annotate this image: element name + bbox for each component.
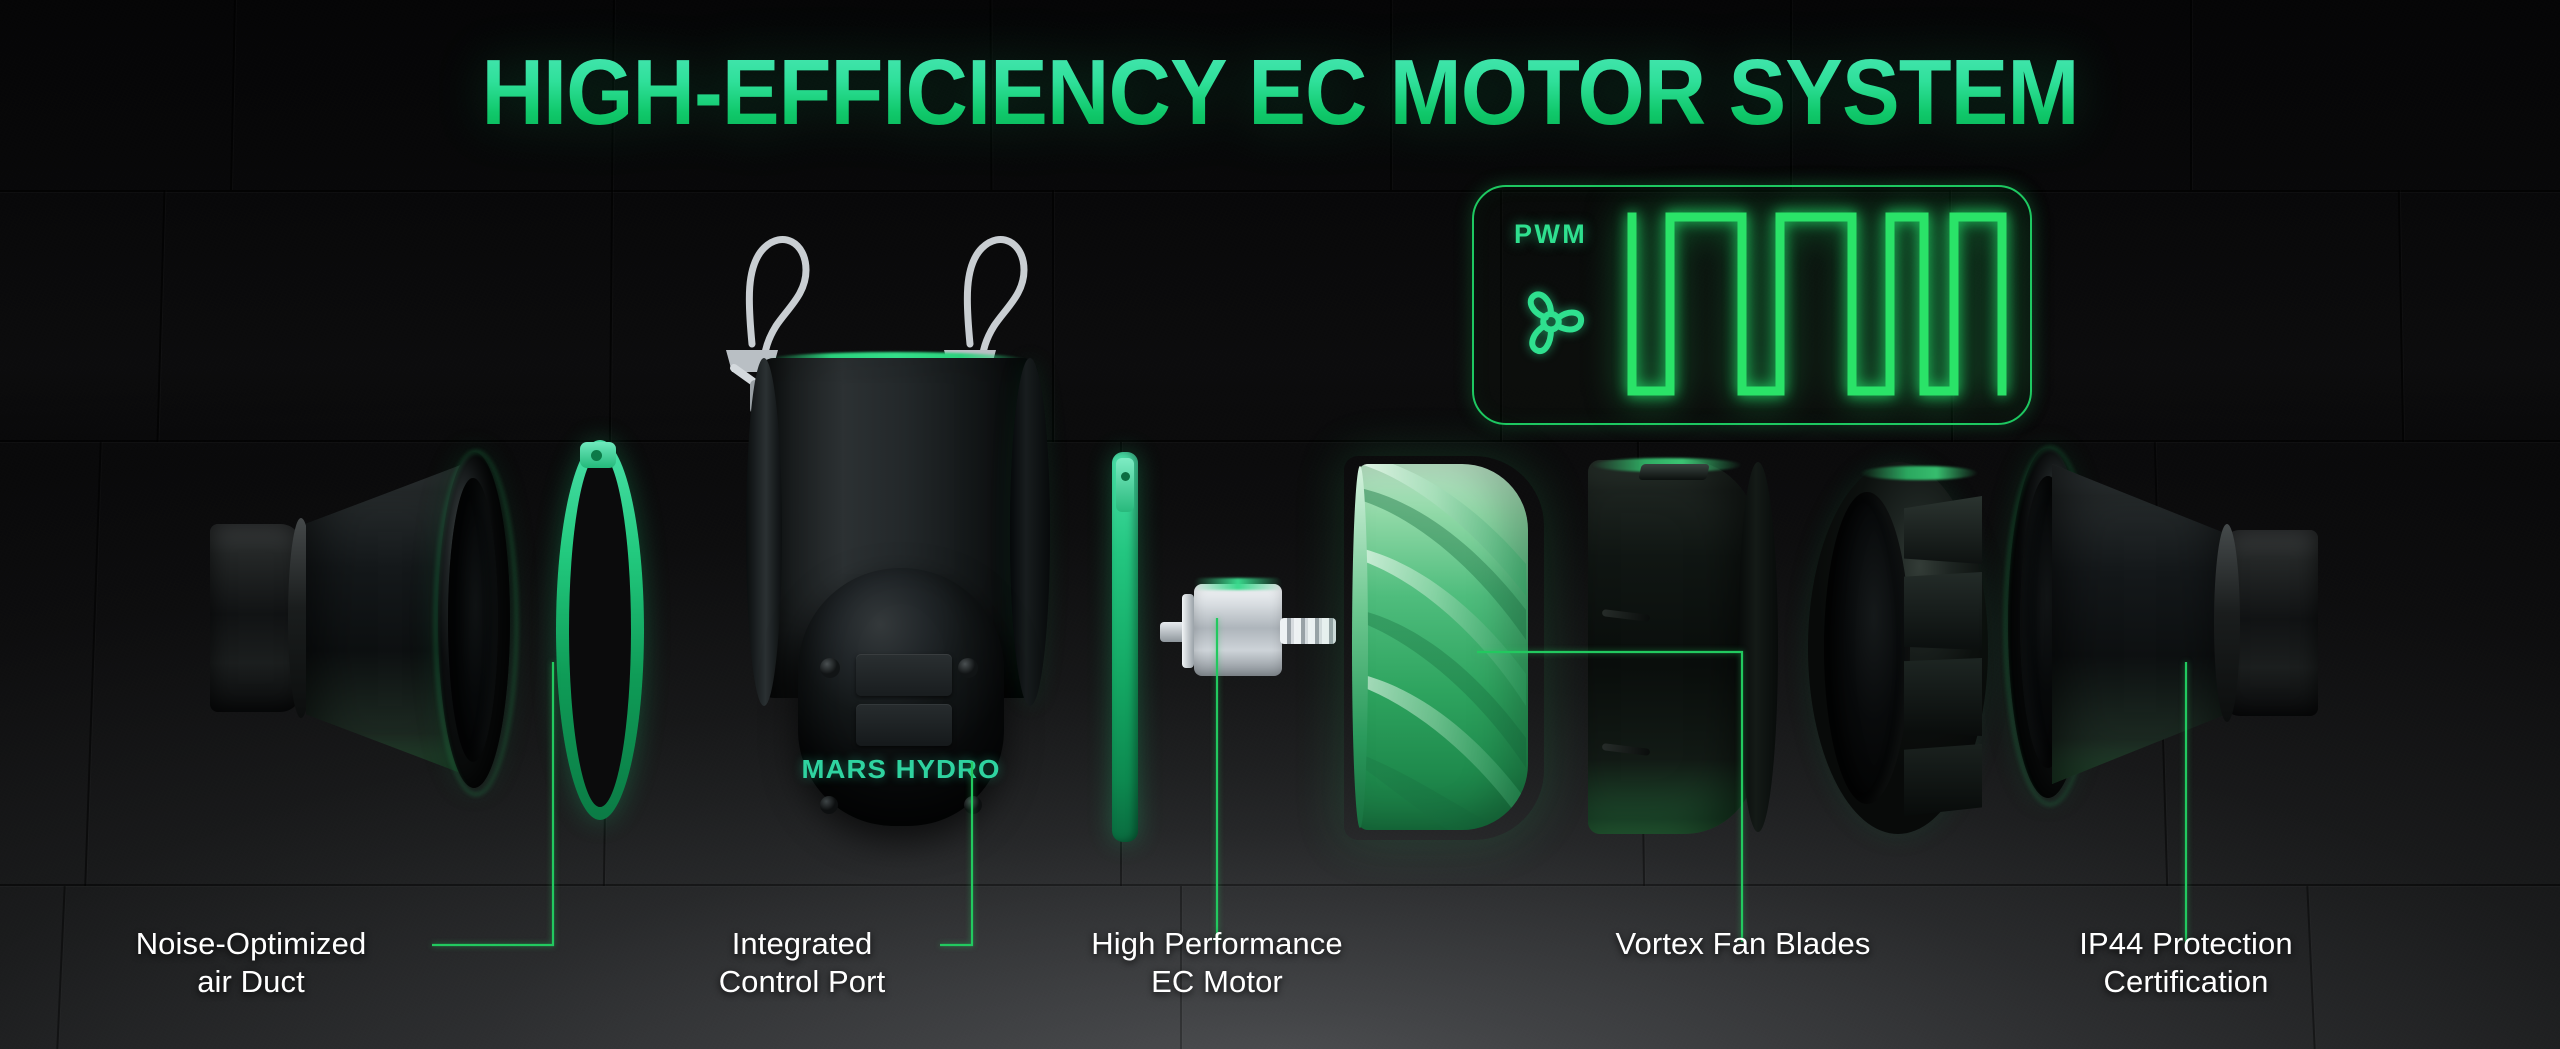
control-port-screw [820,796,838,814]
control-port-socket-lower [856,704,952,746]
fan-icon [1508,277,1594,363]
housing-right-rim [1010,358,1050,706]
label-noise-optimized-air-duct: Noise-Optimized air Duct [68,925,434,1001]
label-integrated-control-port: Integrated Control Port [662,925,942,1001]
motor-edge-light [1194,578,1282,590]
part-stator-ring-rear [1808,462,1988,834]
control-port-screw [958,658,978,678]
control-port-screw [964,796,982,814]
stator-vane [1904,572,1982,650]
stator-rear-bore [1824,492,1910,804]
duct-neck-bead [2214,524,2240,722]
duct-flare [2052,464,2228,784]
part-clamp-ring-front [556,440,644,820]
motor-body [1194,584,1282,676]
motor-shaft [1280,618,1336,644]
part-inlet-air-duct [210,432,510,792]
stator-vane-notch [1638,464,1709,480]
label-high-performance-ec-motor: High Performance EC Motor [1032,925,1402,1001]
part-outlet-air-duct [2008,438,2328,806]
impeller-body [1358,464,1528,830]
pwm-label: PWM [1514,219,1587,250]
clamp-screw-block [1116,458,1134,512]
stator-front-body [1588,460,1756,834]
product-exploded-view: HIGH-EFFICIENCY EC MOTOR SYSTEM PWM [0,0,2560,1049]
part-stator-ring-front [1588,460,1778,834]
label-ip44-protection-certification: IP44 Protection Certification [2000,925,2372,1001]
page-title: HIGH-EFFICIENCY EC MOTOR SYSTEM [90,46,2471,139]
control-port-screw [820,658,840,678]
control-port-dome [798,568,1004,826]
tile-seam-horizontal [0,190,2560,192]
tile-seam-horizontal [0,884,2560,886]
part-clamp-ring-rear [1112,452,1138,842]
part-ec-motor [1160,578,1336,683]
pwm-badge: PWM [1472,185,2032,425]
part-motor-housing: MARS HYDRO [736,352,1066,852]
brand-logo: MARS HYDRO [785,754,1016,785]
part-vortex-impeller [1358,452,1550,844]
control-port-socket-upper [856,654,952,696]
motor-mount-plate [1182,594,1194,668]
housing-left-rim [746,358,782,706]
duct-bore [448,478,498,762]
stator-front-rim [1738,462,1778,832]
square-wave-icon [1624,209,2014,399]
stator-vane [1904,658,1982,736]
stator-rear-edge-light [1860,466,1978,480]
stator-vane [1904,744,1982,816]
clamp-screw [1121,472,1130,481]
label-vortex-fan-blades: Vortex Fan Blades [1548,925,1938,963]
impeller-front-edge [1352,466,1368,828]
clamp-ring-body [556,440,644,820]
clamp-screw [591,450,602,461]
